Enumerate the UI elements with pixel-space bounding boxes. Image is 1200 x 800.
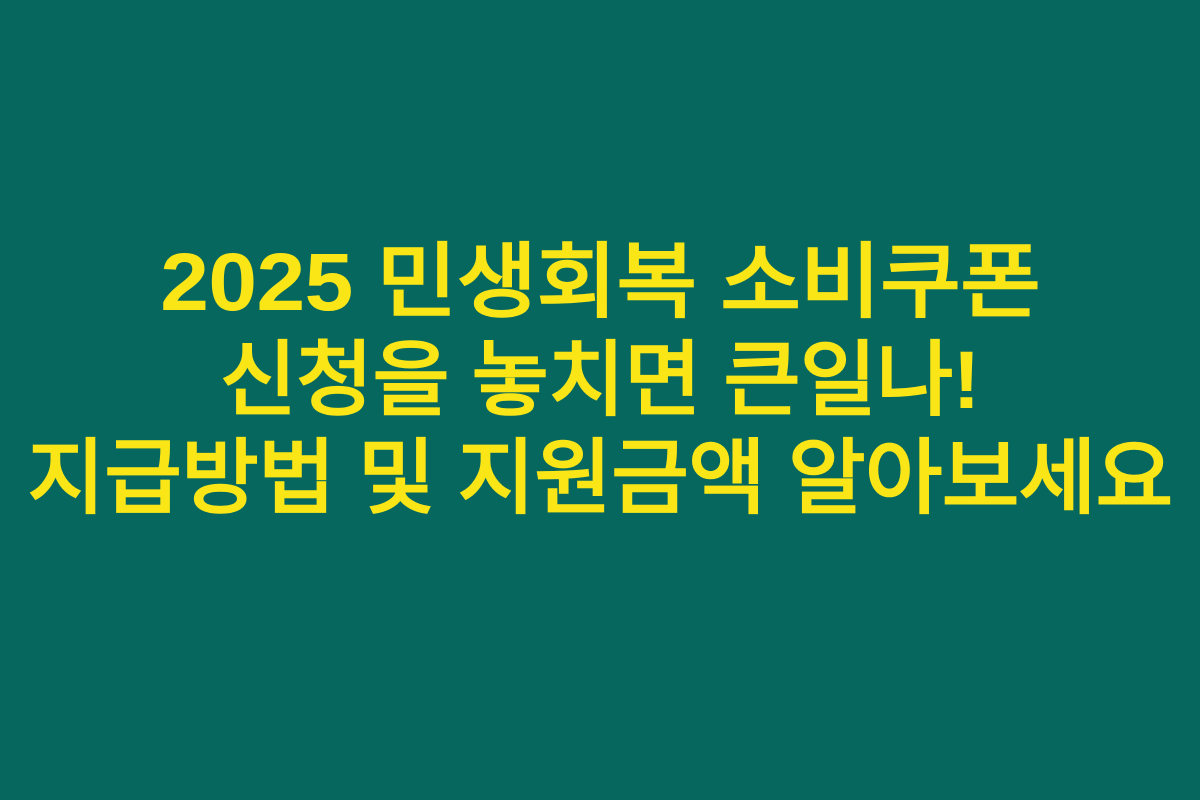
headline-line-2: 신청을 놓치면 큰일나! [0,340,1200,422]
headline-line-3: 지급방법 및 지원금액 알아보세요 [0,438,1200,520]
headline-line-1: 2025 민생회복 소비쿠폰 [0,242,1200,324]
headline-block: 2025 민생회복 소비쿠폰 신청을 놓치면 큰일나! 지급방법 및 지원금액 … [0,242,1200,520]
headline-line-1-text: 2025 민생회복 소비쿠폰 [160,242,1040,324]
headline-line-3-text: 지급방법 및 지원금액 알아보세요 [27,438,1172,520]
headline-line-2-text: 신청을 놓치면 큰일나! [220,340,980,422]
promo-banner: 2025 민생회복 소비쿠폰 신청을 놓치면 큰일나! 지급방법 및 지원금액 … [0,0,1200,800]
